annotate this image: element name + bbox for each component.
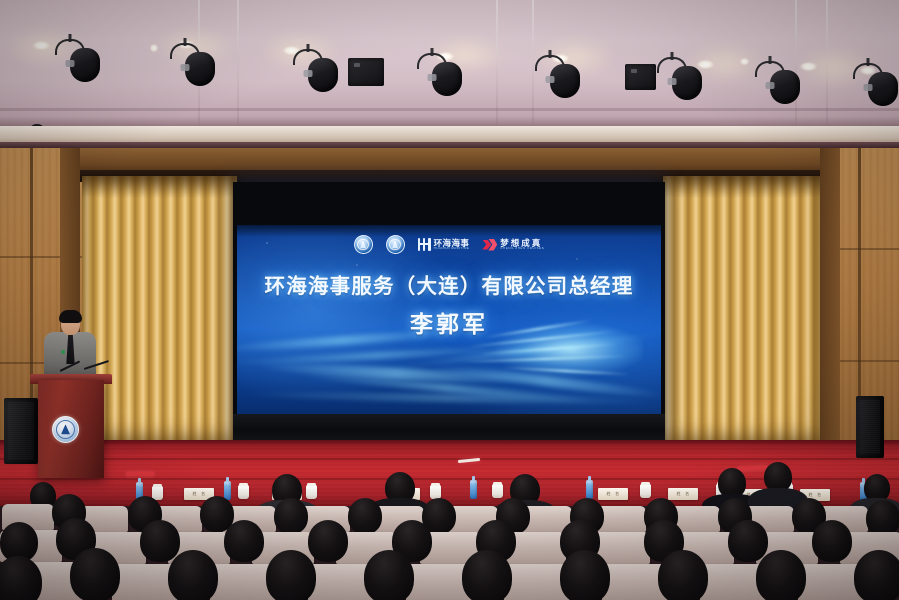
audience-head <box>140 520 180 562</box>
audience-head <box>812 520 852 562</box>
podium-emblem-icon <box>52 416 79 443</box>
tea-cup <box>492 484 503 498</box>
stage-curtain-left <box>82 176 237 444</box>
name-placard: 姓 名 <box>668 488 698 500</box>
slide-title: 环海海事服务（大连）有限公司总经理 <box>237 269 661 299</box>
huanhai-logo-en: HUANHAI MARITIME <box>434 247 470 250</box>
water-bottle <box>470 480 477 499</box>
ceiling-equipment-box <box>625 64 656 90</box>
audience-head <box>658 550 708 600</box>
auditorium-photo: 环海海事 HUANHAI MARITIME 梦想成真 CHENG ZHEN CR… <box>0 0 899 600</box>
audience-head <box>266 550 316 600</box>
water-bottle <box>586 480 593 499</box>
led-screen: 环海海事 HUANHAI MARITIME 梦想成真 CHENG ZHEN CR… <box>237 225 661 414</box>
downlight <box>697 60 714 69</box>
audience-head <box>866 500 899 536</box>
audience-head <box>462 550 512 600</box>
downlight <box>800 62 817 71</box>
circular-emblem-icon <box>386 235 405 254</box>
audience-head <box>224 520 264 562</box>
dream-mark-icon <box>482 239 497 251</box>
presenter <box>44 310 96 382</box>
downlight <box>740 58 749 65</box>
audience-head <box>274 498 308 534</box>
tea-cup <box>430 485 441 499</box>
audience-head <box>70 548 120 600</box>
slide-logo-row: 环海海事 HUANHAI MARITIME 梦想成真 CHENG ZHEN CR… <box>237 235 661 254</box>
tea-cup <box>238 485 249 499</box>
dream-logo-en: CHENG ZHEN CRUISES <box>500 247 544 250</box>
audience-head <box>348 498 382 534</box>
proscenium-right-column <box>820 148 840 448</box>
pa-speaker-right <box>856 396 884 458</box>
audience-head <box>854 550 899 600</box>
audience-area: 姓 名 姓 名 姓 名 姓 名 姓 名 姓 名 姓 名 <box>0 452 899 600</box>
downlight <box>33 41 50 50</box>
audience-head <box>560 550 610 600</box>
stage-curtain-right <box>663 176 820 444</box>
audience-head <box>308 520 348 562</box>
ceiling-equipment-box <box>348 58 384 86</box>
name-placard-label: 姓 名 <box>598 488 628 500</box>
audience-head <box>168 550 218 600</box>
tea-cup <box>640 484 651 498</box>
circular-emblem-icon <box>354 235 373 254</box>
audience-head <box>728 520 768 562</box>
huanhai-logo: 环海海事 HUANHAI MARITIME <box>418 238 470 251</box>
slide-speaker-name: 李郭军 <box>237 305 661 339</box>
downlight <box>150 44 158 52</box>
tea-cup <box>306 485 317 499</box>
dream-logo: 梦想成真 CHENG ZHEN CRUISES <box>482 239 544 251</box>
water-bottle <box>224 481 231 500</box>
audience-head <box>364 550 414 600</box>
audience-head <box>756 550 806 600</box>
name-placard-label: 姓 名 <box>668 488 698 500</box>
huanhai-mark-icon <box>418 238 431 251</box>
name-placard: 姓 名 <box>598 488 628 500</box>
